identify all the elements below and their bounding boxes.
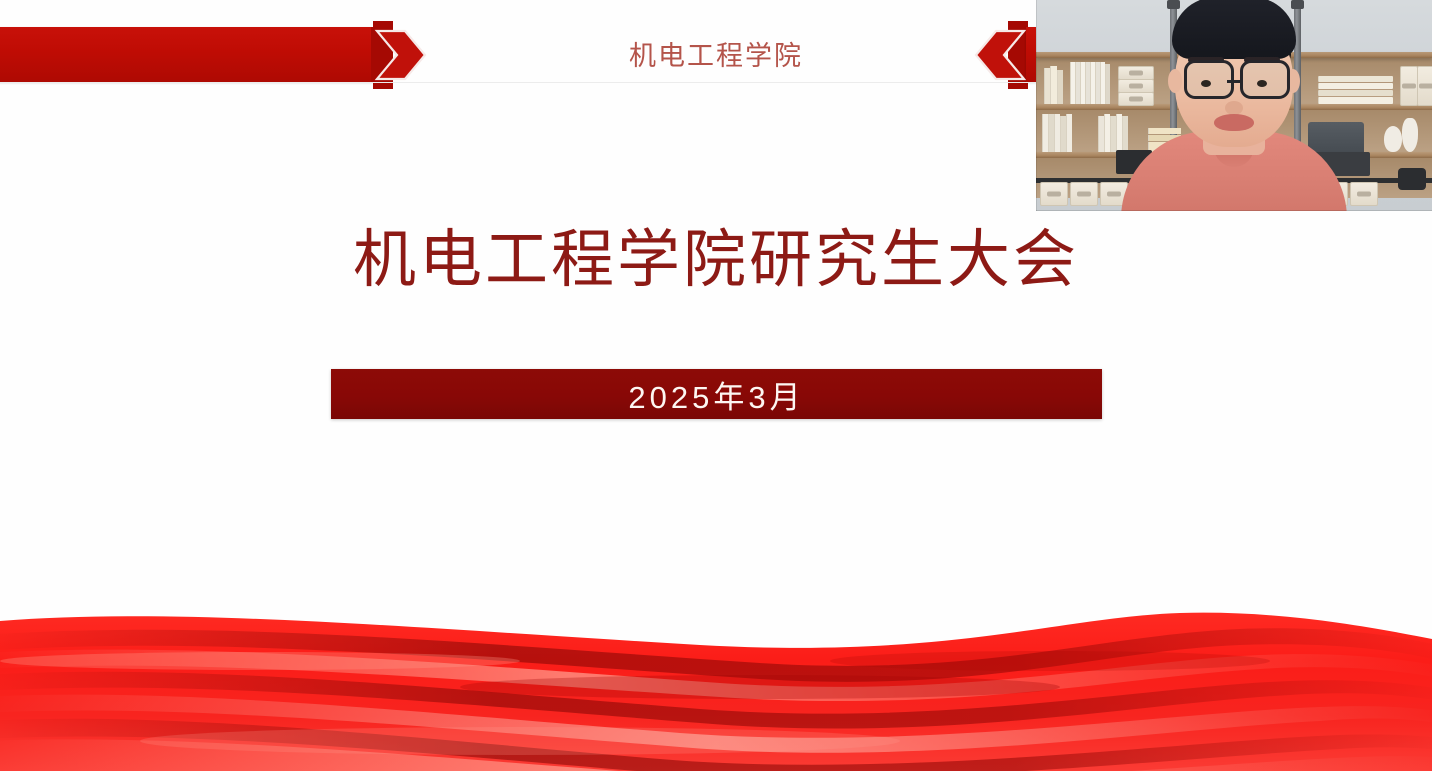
person-mouth	[1214, 114, 1254, 131]
webcam-person-with-glasses	[1036, 0, 1432, 211]
person-eye-left	[1201, 80, 1211, 87]
person-eye-right	[1257, 80, 1267, 87]
eyeglasses-lens-right	[1240, 60, 1290, 99]
eyeglasses-bridge	[1227, 80, 1241, 83]
person-nose	[1225, 101, 1243, 115]
person-hair	[1172, 0, 1296, 59]
video-overlay-left-border	[1036, 0, 1037, 211]
screen: 机电工程学院 机电工程学院研究生大会 2025年3月	[0, 0, 1432, 771]
video-overlay-bottom-border	[1036, 210, 1432, 211]
person-ear-left	[1168, 69, 1182, 93]
date-banner-text: 2025年3月	[628, 372, 804, 417]
webcam-video-overlay[interactable]	[1036, 0, 1432, 211]
date-banner: 2025年3月	[331, 369, 1102, 419]
red-silk-wave-decoration	[0, 591, 1432, 771]
slide-main-title: 机电工程学院研究生大会	[0, 209, 1432, 300]
